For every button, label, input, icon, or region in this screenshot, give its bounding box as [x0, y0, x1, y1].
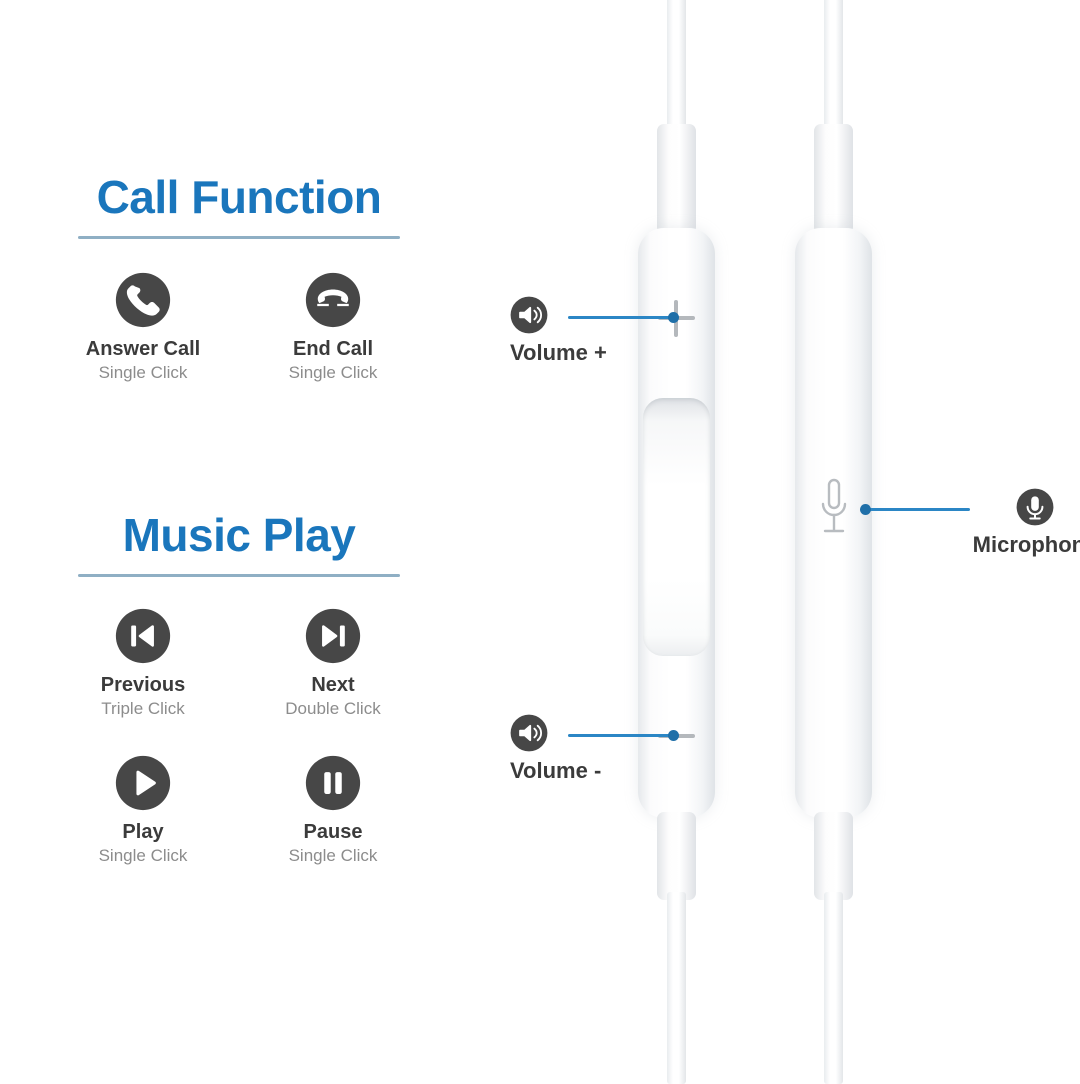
feature-play: Play Single Click [63, 755, 223, 866]
phone-hangup-icon [305, 272, 361, 328]
feature-title: Play [63, 821, 223, 844]
infographic-canvas: Call Function Answer Call Single Click E… [0, 0, 1080, 1080]
section-title-call-function: Call Function [78, 174, 400, 220]
feature-subtitle: Single Click [63, 846, 223, 866]
earphone-cable-upper-left [667, 0, 686, 128]
feature-panel: Call Function Answer Call Single Click E… [0, 0, 470, 1080]
speaker-icon [510, 296, 548, 334]
leader-dot-microphone [860, 504, 871, 515]
feature-subtitle: Single Click [253, 846, 413, 866]
feature-answer-call: Answer Call Single Click [63, 272, 223, 383]
earphone-cable-lower-left [667, 892, 686, 1084]
phone-handset-icon [115, 272, 171, 328]
callout-microphone: Microphone [965, 488, 1080, 557]
feature-previous: Previous Triple Click [63, 608, 223, 719]
play-icon [115, 755, 171, 811]
leader-dot-volume-down [668, 730, 679, 741]
cable-collar-lower-right [814, 812, 853, 900]
feature-title: Pause [253, 821, 413, 844]
skip-next-icon [305, 608, 361, 664]
feature-subtitle: Single Click [63, 363, 223, 383]
feature-title: Previous [63, 674, 223, 697]
feature-title: Answer Call [63, 338, 223, 361]
cable-collar-upper-right [814, 124, 853, 234]
speaker-icon [510, 714, 548, 752]
feature-subtitle: Triple Click [63, 699, 223, 719]
feature-end-call: End Call Single Click [253, 272, 413, 383]
section-title-music-play: Music Play [78, 512, 400, 558]
callout-label: Volume + [510, 341, 607, 365]
feature-next: Next Double Click [253, 608, 413, 719]
callout-label: Microphone [965, 533, 1080, 557]
feature-subtitle: Single Click [253, 363, 413, 383]
product-photo: Volume + Volume - Microphon [470, 0, 1080, 1080]
skip-previous-icon [115, 608, 171, 664]
microphone-icon [1016, 488, 1054, 526]
feature-subtitle: Double Click [253, 699, 413, 719]
feature-title: End Call [253, 338, 413, 361]
feature-pause: Pause Single Click [253, 755, 413, 866]
cable-collar-upper-left [657, 124, 696, 234]
earphone-cable-lower-right [824, 892, 843, 1084]
callout-label: Volume - [510, 759, 601, 783]
cable-collar-lower-left [657, 812, 696, 900]
earphone-cable-upper-right [824, 0, 843, 128]
pause-icon [305, 755, 361, 811]
callout-volume-up: Volume + [510, 296, 607, 365]
center-button[interactable] [643, 398, 710, 656]
feature-title: Next [253, 674, 413, 697]
section-divider-music-play [78, 574, 400, 577]
section-divider-call-function [78, 236, 400, 239]
microphone-port [818, 478, 850, 540]
leader-line-microphone [864, 508, 970, 511]
callout-volume-down: Volume - [510, 714, 601, 783]
leader-dot-volume-up [668, 312, 679, 323]
